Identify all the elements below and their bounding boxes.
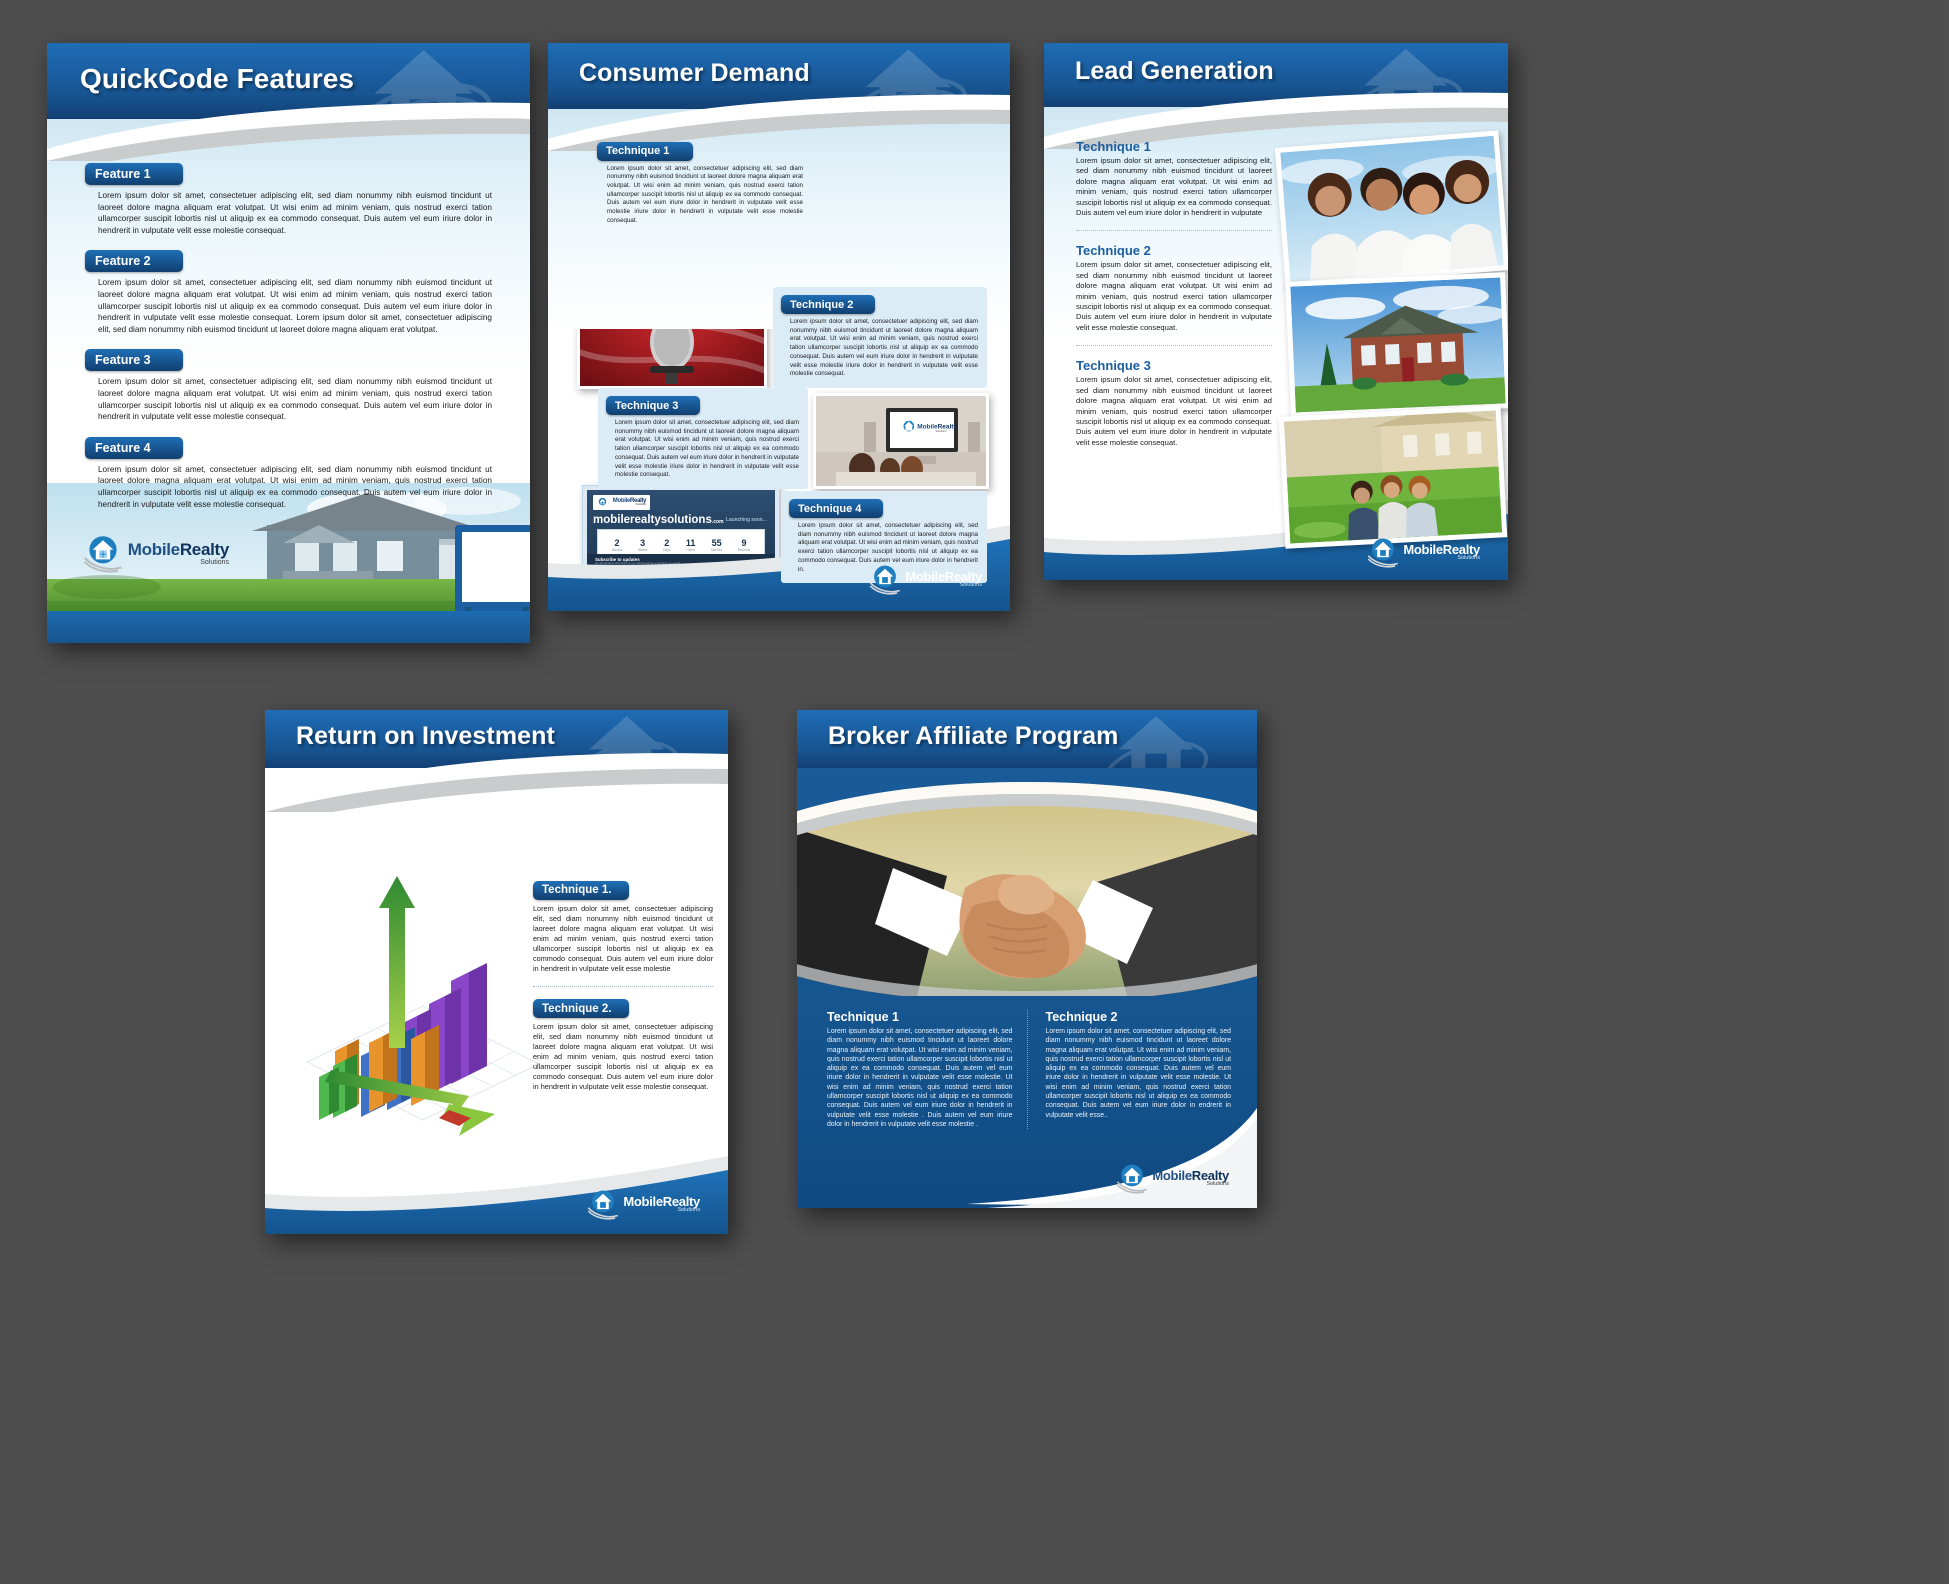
house-globe-logo-icon — [587, 1188, 619, 1220]
technique-1-body: Lorem ipsum dolor sit amet, consectetuer… — [533, 904, 713, 974]
section-technique-1: Technique 1 Lorem ipsum dolor sit amet, … — [827, 1010, 1028, 1129]
technique-4-chip[interactable]: Technique 4 — [789, 499, 883, 518]
section-feature-3: Feature 3 Lorem ipsum dolor sit amet, co… — [85, 349, 492, 422]
brand-name-part1: Mobile — [905, 569, 944, 584]
feature-3-body: Lorem ipsum dolor sit amet, consectetuer… — [98, 376, 492, 422]
technique-1-body: Lorem ipsum dolor sit amet, consectetuer… — [607, 165, 803, 226]
brand-name-part1: Mobile — [1403, 542, 1442, 557]
divider-1 — [533, 986, 713, 987]
feature-1-chip[interactable]: Feature 1 — [85, 163, 183, 185]
page4-text-column: Technique 1. Lorem ipsum dolor sit amet,… — [533, 880, 713, 1092]
technique-2-chip[interactable]: Technique 2 — [781, 295, 875, 314]
technique-1-body: Lorem ipsum dolor sit amet, consectetuer… — [1076, 156, 1272, 218]
technique-1-chip[interactable]: Technique 1. — [533, 881, 629, 900]
brand-wordmark: MobileRealty Solutions — [128, 541, 229, 566]
page2-header: Consumer Demand — [548, 43, 1010, 109]
section-technique-3: Technique 3 Lorem ipsum dolor sit amet, … — [1076, 358, 1272, 448]
brand-tagline: Solutions — [128, 559, 229, 566]
technique-1-body: Lorem ipsum dolor sit amet, consectetuer… — [827, 1027, 1013, 1129]
page3-header: Lead Generation — [1044, 43, 1508, 107]
house-globe-logo-icon — [1367, 536, 1399, 568]
section-technique-1: Technique 1 Lorem ipsum dolor sit amet, … — [597, 141, 803, 225]
technique-1-title: Technique 1 — [1076, 139, 1272, 154]
brochure-page-return-on-investment[interactable]: Return on Investment — [265, 710, 728, 1234]
feature-3-chip[interactable]: Feature 3 — [85, 349, 183, 371]
brochure-page-broker-affiliate-program[interactable]: Broker Affiliate Program — [797, 710, 1257, 1208]
technique-2-chip[interactable]: Technique 2. — [533, 999, 629, 1018]
brand-logo: MobileRealty Solutions — [587, 1188, 700, 1220]
section-technique-1: Technique 1 Lorem ipsum dolor sit amet, … — [1076, 139, 1272, 218]
divider-2 — [1076, 345, 1272, 346]
technique-2-body: Lorem ipsum dolor sit amet, consectetuer… — [1046, 1027, 1232, 1120]
section-technique-2: Technique 2. Lorem ipsum dolor sit amet,… — [533, 999, 713, 1093]
brand-logo: MobileRealty Solutions — [869, 563, 982, 595]
brochure-page-quickcode-features[interactable]: QuickCode Features Feature 1 Lorem ipsum… — [47, 43, 530, 643]
mock-logo: MobileRealtySolutions — [597, 497, 646, 508]
technique-2-title: Technique 2 — [1076, 243, 1272, 258]
brand-name-part1: Mobile — [1152, 1168, 1191, 1183]
brand-logo: MobileRealty Solutions — [1367, 536, 1480, 568]
brochure-page-lead-generation[interactable]: Lead Generation Technique 1 Lorem ipsum … — [1044, 43, 1508, 580]
house-globe-logo-icon — [1116, 1162, 1148, 1194]
page1-footer-strip — [47, 611, 530, 643]
business-handshake-photo — [797, 756, 1257, 996]
roi-chart — [273, 820, 543, 1150]
feature-4-chip[interactable]: Feature 4 — [85, 437, 183, 459]
section-feature-1: Feature 1 Lorem ipsum dolor sit amet, co… — [85, 163, 492, 236]
section-technique-2: Technique 2 Lorem ipsum dolor sit amet, … — [773, 287, 987, 388]
section-technique-1: Technique 1. Lorem ipsum dolor sit amet,… — [533, 880, 713, 974]
technique-1-title: Technique 1 — [827, 1010, 1013, 1024]
section-feature-2: Feature 2 Lorem ipsum dolor sit amet, co… — [85, 250, 492, 335]
technique-3-chip[interactable]: Technique 3 — [606, 396, 700, 415]
page4-header: Return on Investment — [265, 710, 728, 768]
feature-1-body: Lorem ipsum dolor sit amet, consectetuer… — [98, 190, 492, 236]
divider-1 — [1076, 230, 1272, 231]
house-globe-logo-icon — [597, 497, 608, 508]
page-title: Return on Investment — [296, 722, 728, 751]
brand-logo: MobileRealty Solutions — [1116, 1162, 1229, 1194]
happy-family-photo — [1275, 130, 1508, 287]
feature-2-body: Lorem ipsum dolor sit amet, consectetuer… — [98, 277, 492, 335]
svg-text:MobileRealty: MobileRealty — [917, 423, 957, 430]
technique-2-body: Lorem ipsum dolor sit amet, consectetuer… — [533, 1022, 713, 1092]
technique-2-body: Lorem ipsum dolor sit amet, consectetuer… — [790, 318, 978, 379]
page-title: Lead Generation — [1075, 57, 1508, 86]
technique-2-body: Lorem ipsum dolor sit amet, consectetuer… — [1076, 260, 1272, 333]
page5-columns: Technique 1 Lorem ipsum dolor sit amet, … — [827, 1010, 1231, 1129]
brand-name-part1: Mobile — [623, 1194, 662, 1209]
family-watching-tv-photo: MobileRealty Solutions — [813, 393, 989, 489]
brand-name-part1: Mobile — [128, 540, 180, 559]
feature-2-chip[interactable]: Feature 2 — [85, 250, 183, 272]
technique-3-title: Technique 3 — [1076, 358, 1272, 373]
section-technique-2: Technique 2 Lorem ipsum dolor sit amet, … — [1046, 1010, 1232, 1129]
feature-4-body: Lorem ipsum dolor sit amet, consectetuer… — [98, 464, 492, 510]
page-title: Consumer Demand — [579, 59, 1010, 88]
page3-text-column: Technique 1 Lorem ipsum dolor sit amet, … — [1076, 139, 1272, 448]
brand-name-part2: Realty — [180, 540, 229, 559]
section-technique-2: Technique 2 Lorem ipsum dolor sit amet, … — [1076, 243, 1272, 333]
section-feature-4: Feature 4 Lorem ipsum dolor sit amet, co… — [85, 437, 492, 510]
technique-3-body: Lorem ipsum dolor sit amet, consectetuer… — [615, 419, 799, 480]
technique-1-chip[interactable]: Technique 1 — [597, 142, 693, 161]
technique-2-title: Technique 2 — [1046, 1010, 1232, 1024]
technique-3-body: Lorem ipsum dolor sit amet, consectetuer… — [1076, 375, 1272, 448]
section-technique-3: Technique 3 Lorem ipsum dolor sit amet, … — [598, 388, 808, 489]
house-globe-logo-icon — [869, 563, 901, 595]
house-globe-logo-icon — [83, 533, 123, 573]
brochure-page-consumer-demand[interactable]: Consumer Demand Technique 1 Lorem ipsum … — [548, 43, 1010, 611]
page-title: Broker Affiliate Program — [828, 722, 1257, 751]
family-on-lawn-photo — [1279, 405, 1508, 548]
brand-logo: MobileRealty Solutions — [83, 533, 229, 573]
brick-suburban-home-photo — [1285, 272, 1508, 417]
page1-body: Feature 1 Lorem ipsum dolor sit amet, co… — [47, 135, 530, 510]
roi-chart-svg — [273, 820, 543, 1150]
page1-header: QuickCode Features — [47, 43, 530, 119]
page-title: QuickCode Features — [80, 63, 530, 95]
